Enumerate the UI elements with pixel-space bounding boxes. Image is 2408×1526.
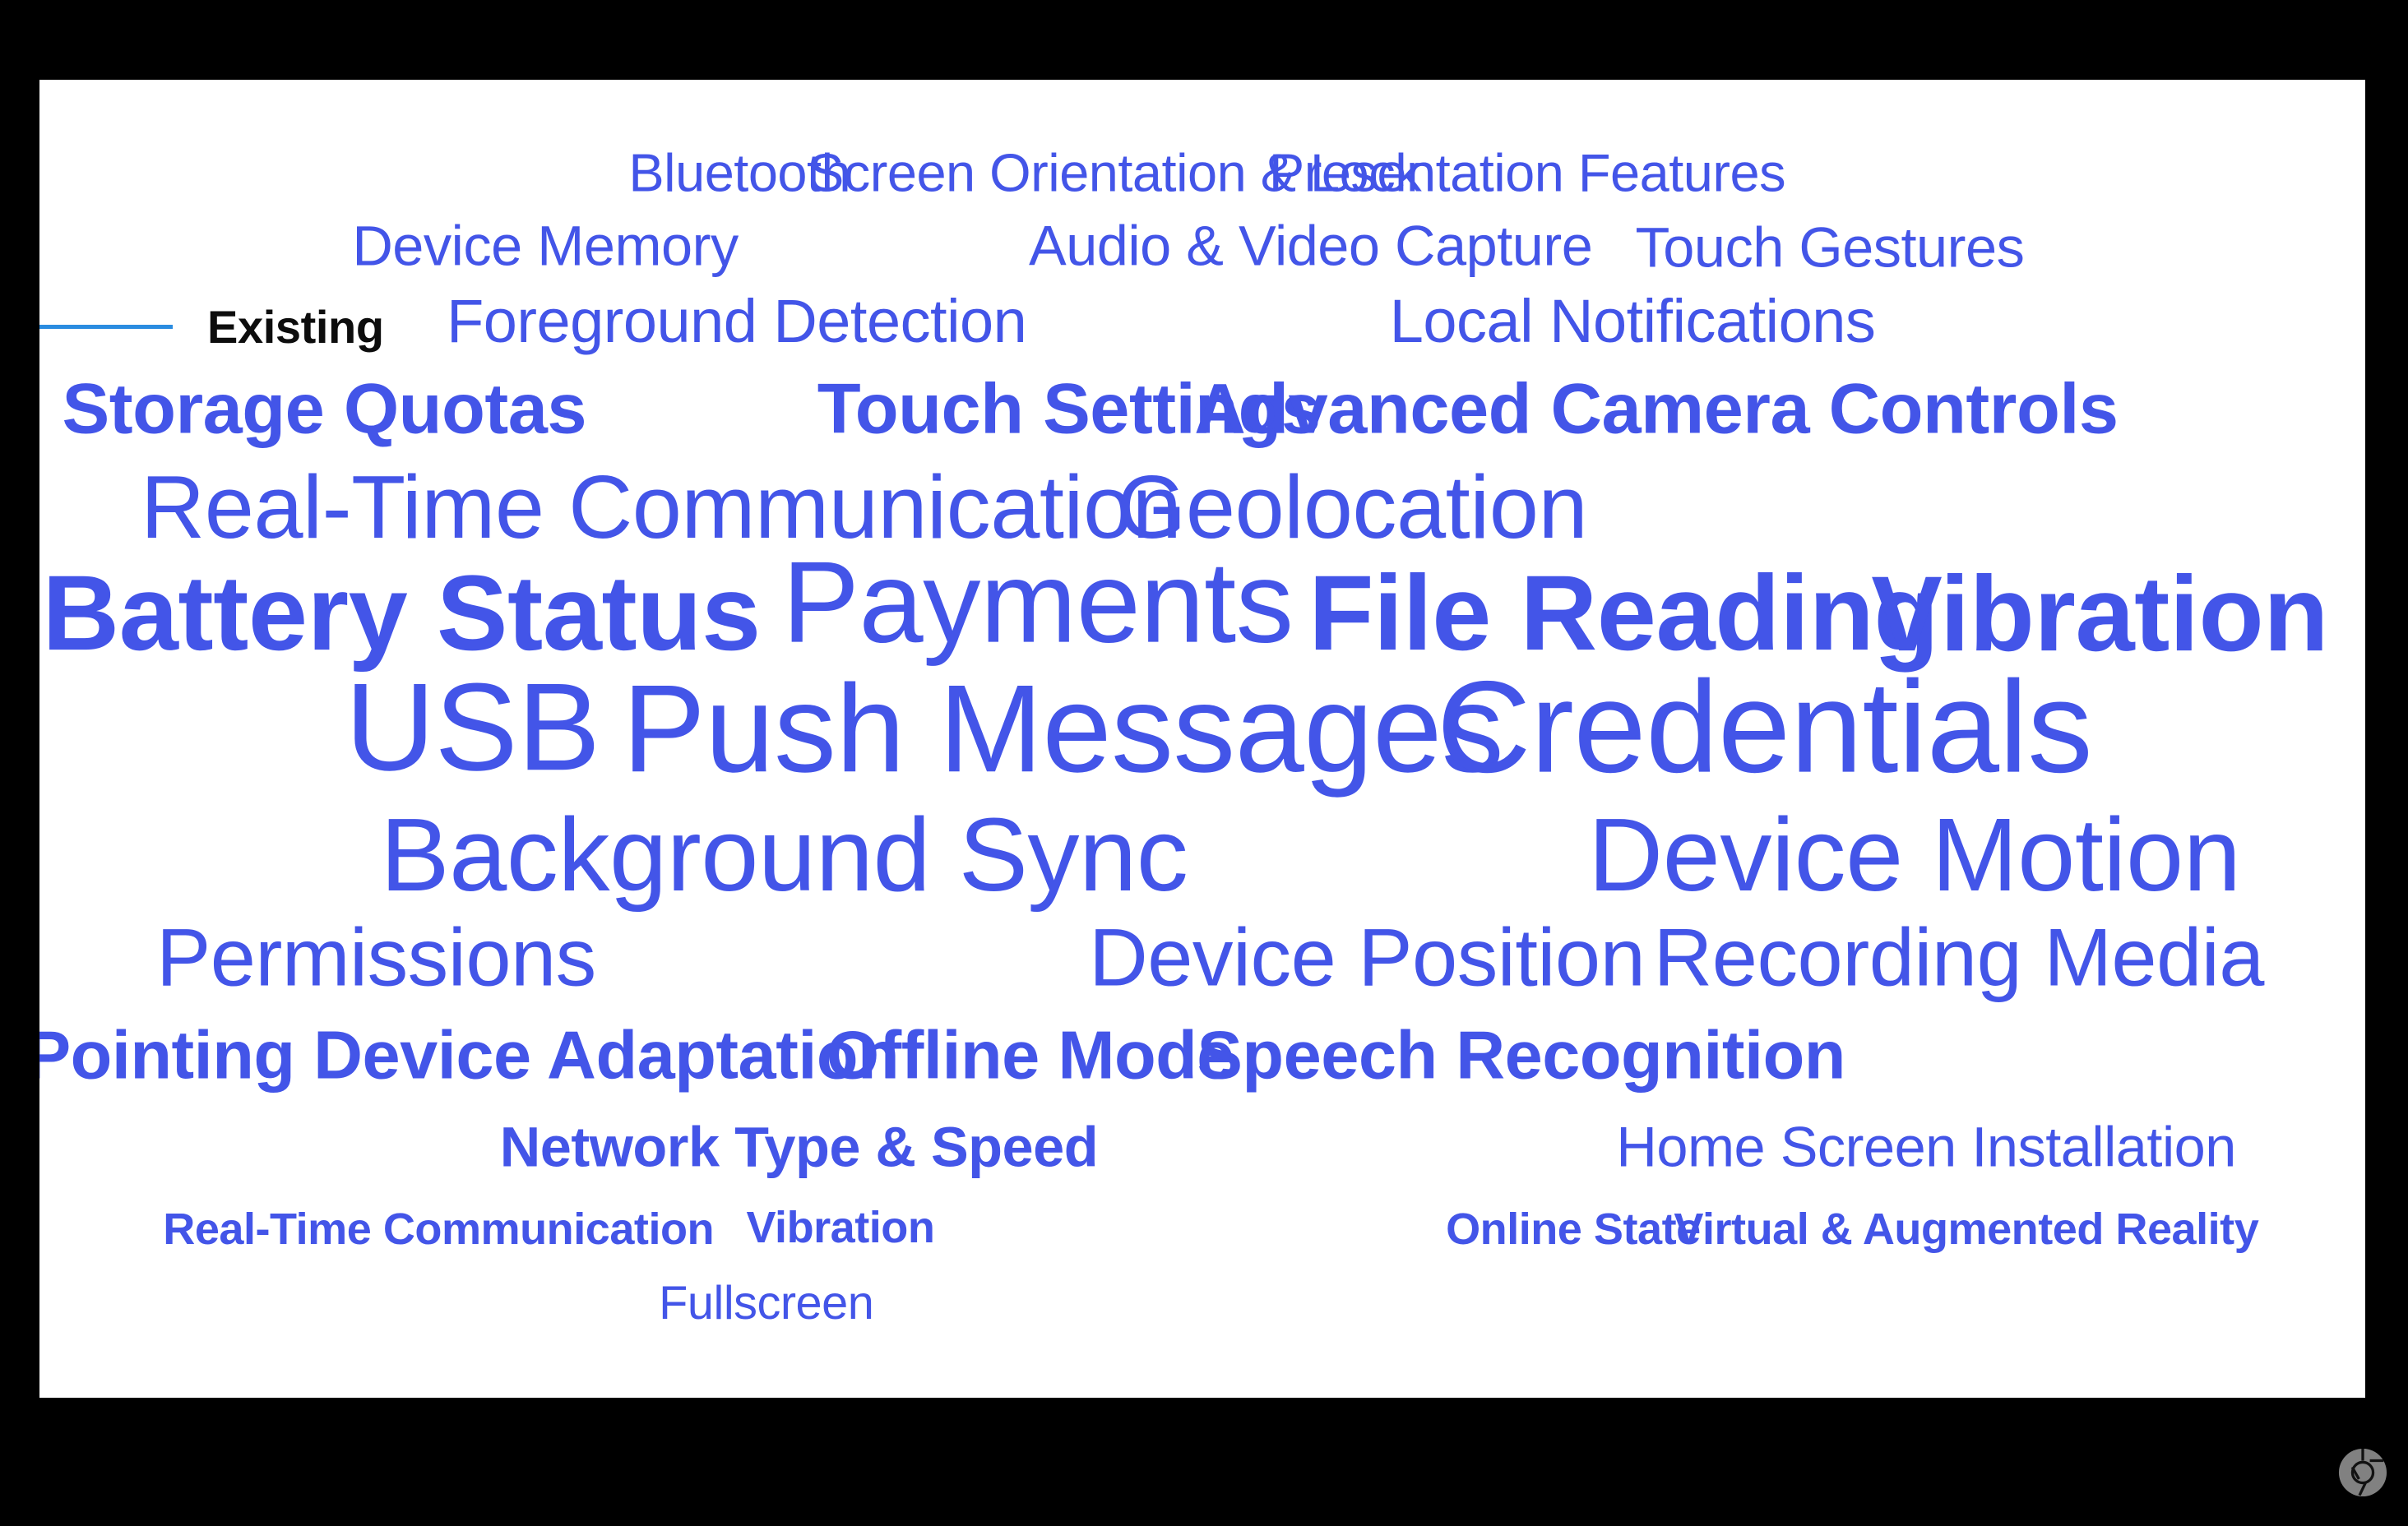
word-cloud-term: Virtual & Augmented Reality (1674, 1207, 2258, 1251)
slide-canvas: BluetoothScreen Orientation & LockPresen… (39, 80, 2365, 1398)
word-cloud-term: USB (345, 666, 600, 791)
word-cloud-term: Credentials (1437, 661, 2092, 792)
word-cloud-term: Permissions (156, 917, 596, 998)
word-cloud-term: Local Notifications (1390, 291, 1876, 352)
word-cloud-term: Home Screen Installation (1616, 1120, 2235, 1177)
word-cloud-term: Network Type & Speed (500, 1120, 1098, 1177)
word-cloud-term: Offline Mode (827, 1022, 1234, 1090)
word-cloud-term: File Reading (1308, 560, 1938, 667)
word-cloud-term: Device Memory (352, 219, 738, 275)
word-cloud-term: Touch Gestures (1635, 220, 2024, 277)
word-cloud-term: Vibration (1871, 562, 2328, 668)
word-cloud-term: Advanced Camera Controls (1194, 373, 2118, 445)
word-cloud-term: Speech Recognition (1197, 1022, 1845, 1090)
legend-existing: Existing (39, 302, 384, 351)
word-cloud-term: Push Messages (623, 667, 1503, 792)
word-cloud-term: Storage Quotas (63, 373, 587, 445)
word-cloud-term: Payments (782, 544, 1293, 660)
word-cloud-term: Fullscreen (659, 1280, 873, 1328)
word-cloud-term: Vibration (746, 1205, 934, 1250)
word-cloud-term: Device Motion (1588, 803, 2240, 907)
word-cloud-term: Background Sync (380, 803, 1188, 907)
word-cloud-term: Foreground Detection (447, 291, 1026, 352)
legend-label: Existing (207, 300, 384, 354)
chrome-logo-icon (2336, 1445, 2390, 1500)
horizontal-rule-icon (39, 325, 173, 329)
word-cloud-term: Real-Time Communication (163, 1207, 714, 1251)
word-cloud-term: Audio & Video Capture (1029, 219, 1592, 275)
word-cloud-term: Recording Media (1654, 917, 2264, 998)
word-cloud-term: Device Position (1089, 917, 1645, 998)
word-cloud-term: Battery Status (42, 560, 760, 667)
word-cloud-term: Online State (1446, 1207, 1701, 1251)
word-cloud-term: Presentation Features (1269, 146, 1785, 200)
word-cloud-term: Pointing Device Adaptation (39, 1022, 899, 1090)
presentation-frame: BluetoothScreen Orientation & LockPresen… (0, 0, 2408, 1526)
